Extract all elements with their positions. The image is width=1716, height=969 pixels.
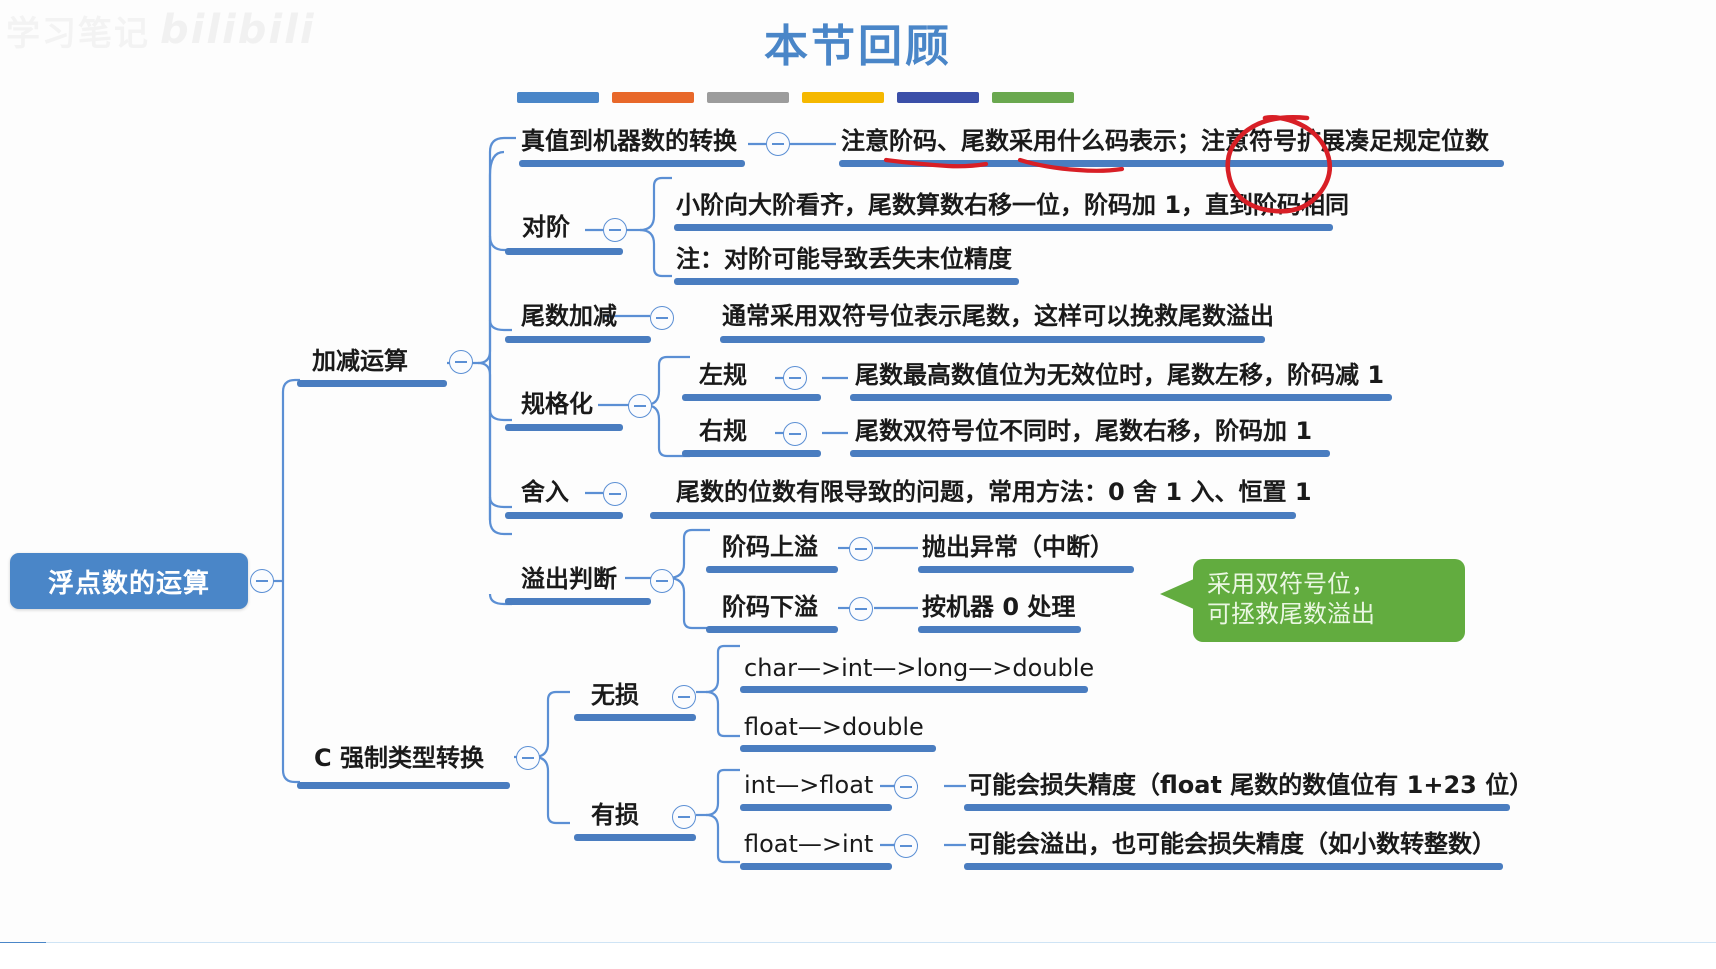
node-duijie-detail-2-underline <box>674 278 1019 285</box>
node-guigehua-underline <box>505 424 623 431</box>
node-jiemaxiayi-toggle[interactable] <box>849 597 873 621</box>
node-jiemaxiayi-detail[interactable]: 按机器 0 处理 <box>922 594 1075 620</box>
node-int-to-float-detail[interactable]: 可能会损失精度（float 尾数的数值位有 1+23 位） <box>968 772 1533 798</box>
color-bar-5 <box>897 92 979 103</box>
node-float-to-int-underline <box>740 863 892 870</box>
node-jiemashangyi-detail[interactable]: 抛出异常（中断） <box>922 534 1114 560</box>
node-yougui-underline <box>682 450 821 457</box>
node-sheru-label[interactable]: 舍入 <box>521 479 569 505</box>
color-bar-6 <box>992 92 1074 103</box>
node-jiemashangyi-underline <box>706 566 838 573</box>
node-jiemaxiayi-detail-underline <box>918 626 1081 633</box>
node-arithmetic-underline <box>297 380 447 387</box>
color-bar-3 <box>707 92 789 103</box>
node-wusun-detail-2-underline <box>740 745 936 752</box>
node-guigehua-label[interactable]: 规格化 <box>521 391 593 417</box>
callout-box: 采用双符号位， 可拯救尾数溢出 <box>1193 559 1465 642</box>
node-wusun-label[interactable]: 无损 <box>591 682 639 708</box>
node-conversion-detail-underline <box>839 160 1504 167</box>
node-int-to-float-label[interactable]: int—>float <box>744 772 873 798</box>
node-int-to-float-underline <box>740 804 892 811</box>
node-jiemashangyi-toggle[interactable] <box>849 537 873 561</box>
root-node-label: 浮点数的运算 <box>48 563 210 600</box>
slide-canvas: 学习笔记 bilibili 本节回顾 <box>0 0 1716 969</box>
node-jiemashangyi-label[interactable]: 阶码上溢 <box>722 534 818 560</box>
page-title: 本节回顾 <box>0 10 1716 74</box>
node-duijie-underline <box>505 248 623 255</box>
callout-line-1: 采用双符号位， <box>1207 569 1451 599</box>
node-sheru-detail[interactable]: 尾数的位数有限导致的问题，常用方法：0 舍 1 入、恒置 1 <box>676 479 1312 505</box>
node-cast-label[interactable]: C 强制类型转换 <box>314 745 484 771</box>
node-zuogui-label[interactable]: 左规 <box>699 362 747 388</box>
node-arithmetic-label[interactable]: 加减运算 <box>312 348 408 374</box>
node-weishujiajian-underline <box>505 336 651 343</box>
node-jiemaxiayi-underline <box>706 626 838 633</box>
node-yousun-label[interactable]: 有损 <box>591 802 639 828</box>
callout-tail <box>1160 578 1196 610</box>
node-zuogui-underline <box>682 394 821 401</box>
color-bar-1 <box>517 92 599 103</box>
node-float-to-int-toggle[interactable] <box>894 834 918 858</box>
node-weishujiajian-label[interactable]: 尾数加减 <box>521 303 617 329</box>
node-wusun-detail-1[interactable]: char—>int—>long—>double <box>744 655 1094 681</box>
node-duijie-toggle[interactable] <box>603 218 627 242</box>
node-jiemaxiayi-label[interactable]: 阶码下溢 <box>722 594 818 620</box>
node-weishujiajian-detail-underline <box>720 336 1265 343</box>
node-duijie-detail-2[interactable]: 注：对阶可能导致丢失末位精度 <box>676 246 1012 272</box>
node-conversion-toggle[interactable] <box>766 132 790 156</box>
node-yichupanduan-toggle[interactable] <box>650 569 674 593</box>
root-collapse-toggle[interactable] <box>250 569 274 593</box>
node-float-to-int-detail-underline <box>964 863 1503 870</box>
node-arithmetic-toggle[interactable] <box>449 350 473 374</box>
node-yougui-detail-underline <box>850 450 1330 457</box>
node-cast-toggle[interactable] <box>516 746 540 770</box>
node-duijie-detail-1-underline <box>674 224 1333 231</box>
node-weishujiajian-toggle[interactable] <box>650 306 674 330</box>
node-yougui-label[interactable]: 右规 <box>699 418 747 444</box>
node-wusun-toggle[interactable] <box>672 685 696 709</box>
node-yougui-detail[interactable]: 尾数双符号位不同时，尾数右移，阶码加 1 <box>855 418 1312 444</box>
color-bar-strip <box>517 92 1074 103</box>
root-node[interactable]: 浮点数的运算 <box>10 553 248 609</box>
node-float-to-int-detail[interactable]: 可能会溢出，也可能会损失精度（如小数转整数） <box>968 831 1496 857</box>
callout-line-2: 可拯救尾数溢出 <box>1207 599 1451 629</box>
color-bar-4 <box>802 92 884 103</box>
node-guigehua-toggle[interactable] <box>628 394 652 418</box>
node-sheru-underline <box>505 512 623 519</box>
node-wusun-detail-2[interactable]: float—>double <box>744 714 924 740</box>
node-zuogui-toggle[interactable] <box>783 366 807 390</box>
node-weishujiajian-detail[interactable]: 通常采用双符号位表示尾数，这样可以挽救尾数溢出 <box>722 303 1274 329</box>
node-yougui-toggle[interactable] <box>783 422 807 446</box>
color-bar-2 <box>612 92 694 103</box>
node-duijie-detail-1[interactable]: 小阶向大阶看齐，尾数算数右移一位，阶码加 1，直到阶码相同 <box>676 192 1349 218</box>
node-zuogui-detail[interactable]: 尾数最高数值位为无效位时，尾数左移，阶码减 1 <box>855 362 1384 388</box>
node-jiemashangyi-detail-underline <box>918 566 1134 573</box>
node-yousun-underline <box>574 834 696 841</box>
node-wusun-underline <box>574 714 696 721</box>
node-duijie-label[interactable]: 对阶 <box>522 214 570 240</box>
node-int-to-float-toggle[interactable] <box>894 775 918 799</box>
node-conversion-underline <box>519 160 745 167</box>
node-yichupanduan-label[interactable]: 溢出判断 <box>521 566 617 592</box>
node-int-to-float-detail-underline <box>964 804 1510 811</box>
node-yousun-toggle[interactable] <box>672 805 696 829</box>
node-wusun-detail-1-underline <box>740 686 1088 693</box>
node-sheru-detail-underline <box>650 512 1296 519</box>
node-float-to-int-label[interactable]: float—>int <box>744 831 873 857</box>
node-cast-underline <box>297 782 510 789</box>
player-bottom-bar <box>0 943 1716 969</box>
node-zuogui-detail-underline <box>850 394 1392 401</box>
node-conversion-detail[interactable]: 注意阶码、尾数采用什么码表示；注意符号扩展凑足规定位数 <box>841 128 1489 154</box>
node-yichupanduan-underline <box>505 598 651 605</box>
node-sheru-toggle[interactable] <box>603 482 627 506</box>
node-conversion-label[interactable]: 真值到机器数的转换 <box>521 128 737 154</box>
